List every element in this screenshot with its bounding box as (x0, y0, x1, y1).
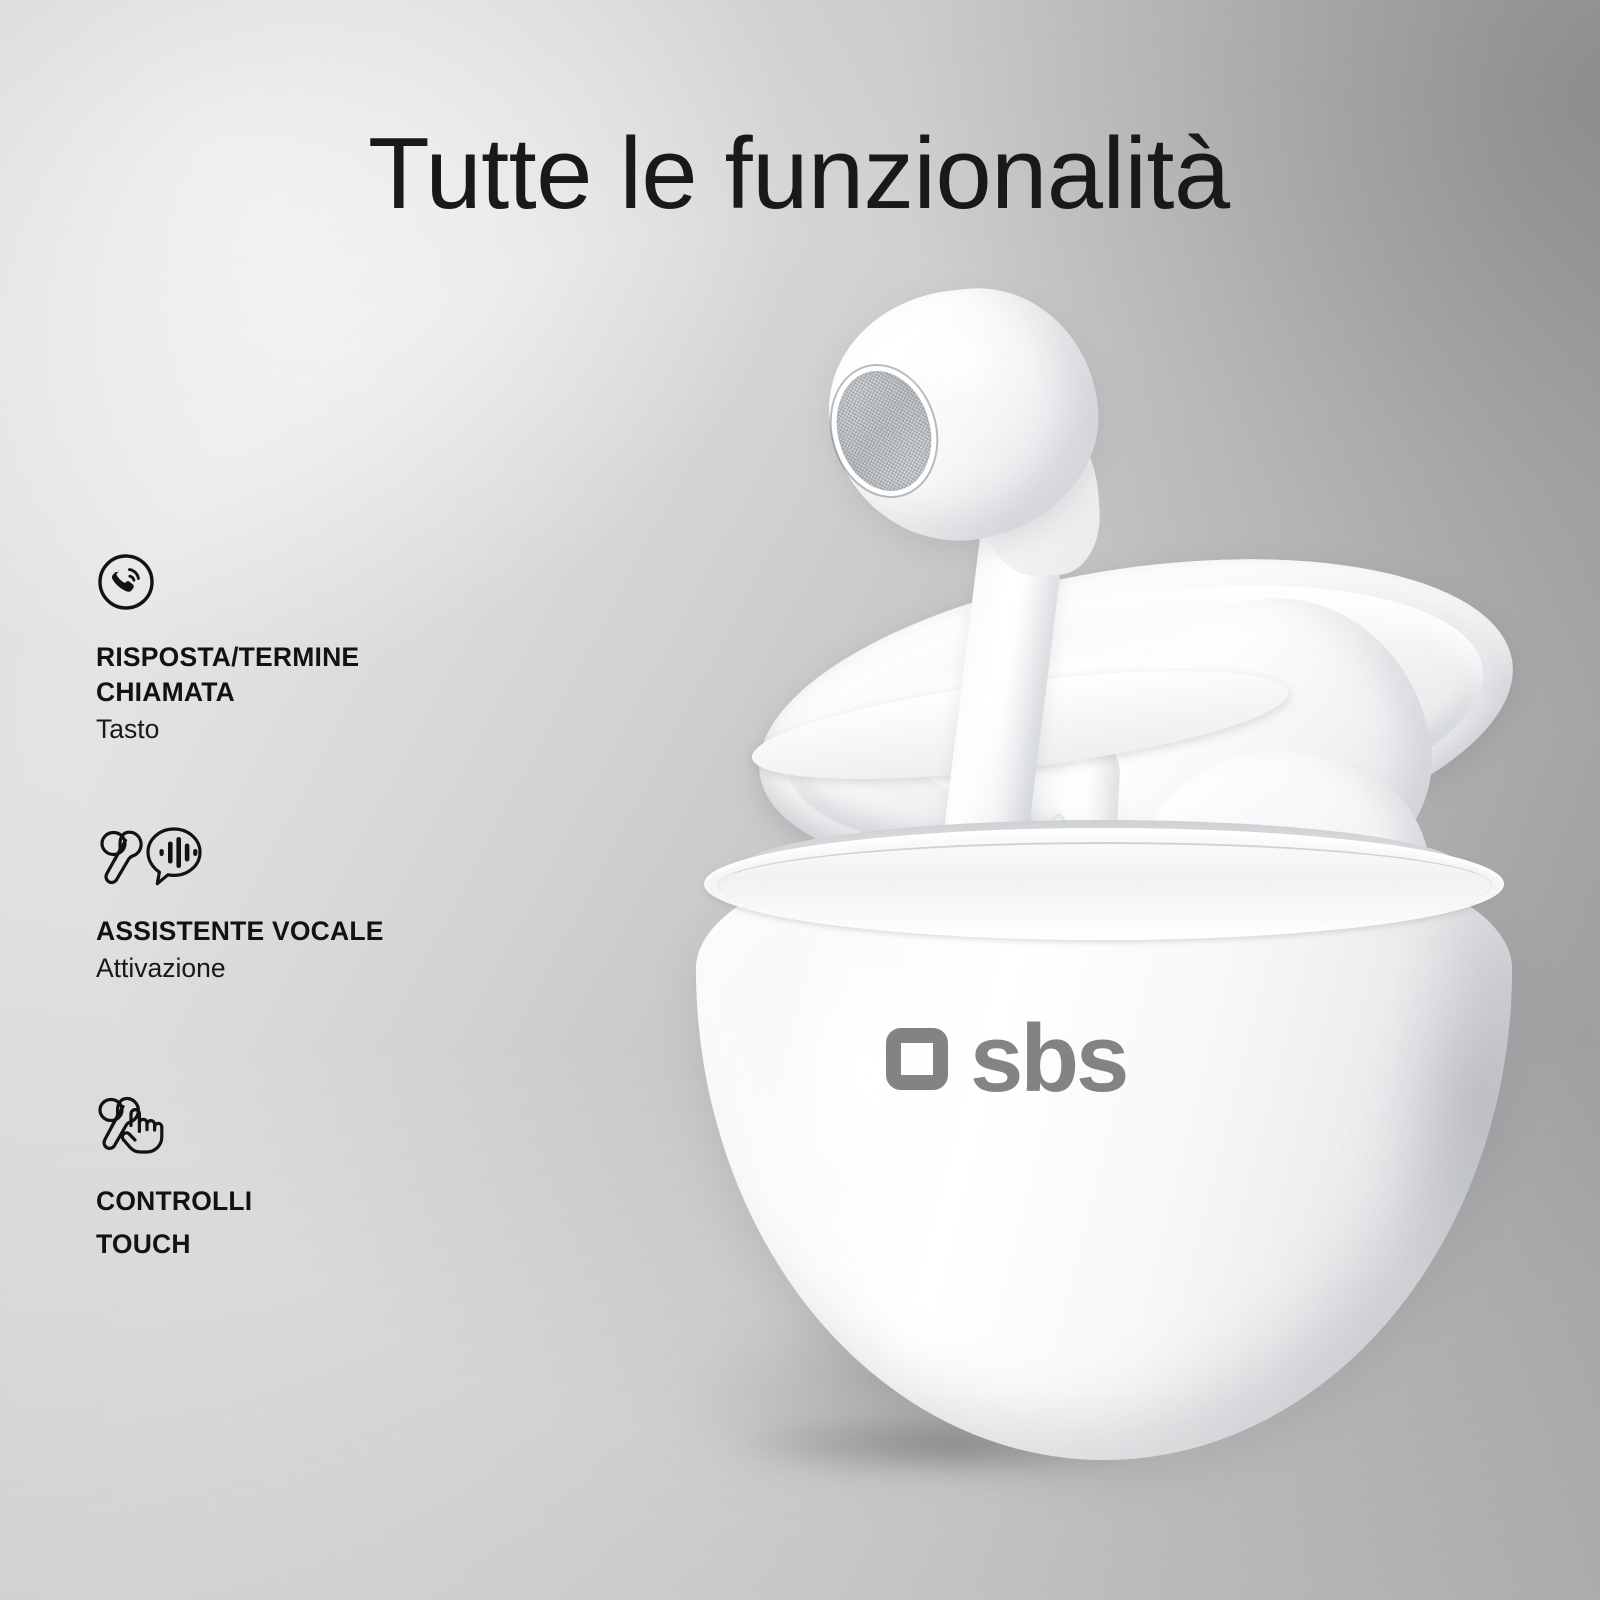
earbud-voice-assistant-icon (96, 826, 516, 900)
charging-case-shade (1320, 890, 1570, 1360)
product-feature-graphic: Tutte le funzionalità RISPOSTA/TERMINE C… (0, 0, 1600, 1600)
feature-subtitle: Tasto (96, 712, 516, 746)
page-title: Tutte le funzionalità (368, 118, 1230, 231)
earbud-touch-hand-icon (96, 1092, 516, 1166)
feature-title: ASSISTENTE VOCALE (96, 914, 516, 949)
charging-case-rim-line (718, 842, 1492, 928)
sbs-brand-logo: sbs (886, 1022, 1126, 1097)
charging-case-highlight (770, 930, 1000, 1330)
sbs-logo-mark-icon (886, 1028, 948, 1090)
sbs-logo-wordmark: sbs (970, 1022, 1126, 1097)
feature-title: CONTROLLI TOUCH (96, 1180, 516, 1267)
feature-title: RISPOSTA/TERMINE CHIAMATA (96, 640, 516, 710)
feature-item-touch-controls: CONTROLLI TOUCH (96, 1092, 516, 1269)
feature-item-call: RISPOSTA/TERMINE CHIAMATA Tasto (96, 552, 516, 747)
product-image: sbs (600, 230, 1600, 1600)
feature-item-voice-assistant: ASSISTENTE VOCALE Attivazione (96, 826, 516, 986)
earbud-head-highlight (900, 322, 1040, 432)
feature-subtitle: Attivazione (96, 951, 516, 985)
phone-call-circle-icon (96, 552, 516, 626)
